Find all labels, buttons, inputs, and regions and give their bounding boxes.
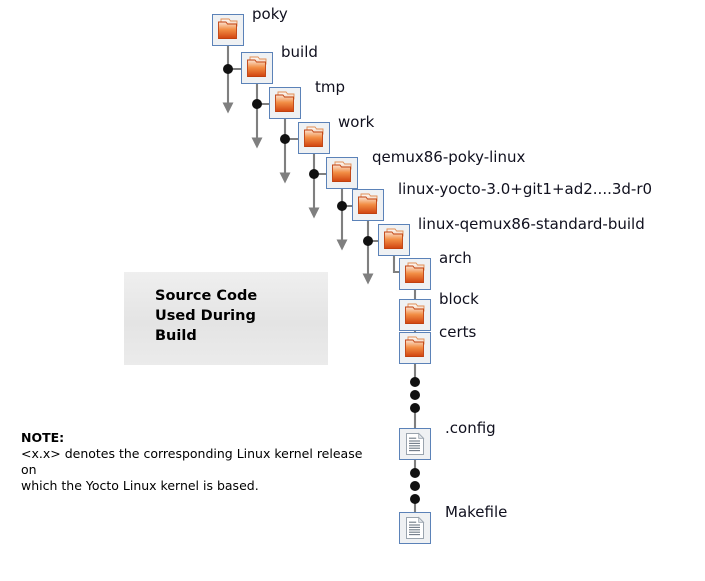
folder-icon[interactable]	[352, 189, 384, 221]
legend-label: Source Code Used During Build	[155, 286, 257, 346]
node-label: block	[439, 291, 479, 307]
file-icon[interactable]	[399, 428, 431, 460]
file-icon[interactable]	[399, 512, 431, 544]
directory-tree-diagram: poky build tmp	[0, 0, 705, 581]
node-label: qemux86-poky-linux	[372, 149, 525, 165]
folder-icon[interactable]	[399, 332, 431, 364]
folder-icon[interactable]	[326, 157, 358, 189]
note-block: NOTE: <x.x> denotes the corresponding Li…	[21, 430, 381, 494]
node-label: linux-qemux86-standard-build	[418, 216, 645, 232]
note-title: NOTE:	[21, 430, 381, 446]
folder-icon[interactable]	[399, 258, 431, 290]
folder-icon[interactable]	[298, 122, 330, 154]
legend-box: Source Code Used During Build	[124, 272, 328, 365]
folder-icon[interactable]	[241, 52, 273, 84]
folder-icon[interactable]	[212, 14, 244, 46]
node-label: tmp	[315, 79, 345, 95]
node-label: linux-yocto-3.0+git1+ad2....3d-r0	[398, 181, 652, 197]
node-label: work	[338, 114, 374, 130]
node-label: Makefile	[445, 504, 507, 520]
node-label: poky	[252, 6, 288, 22]
node-label: build	[281, 44, 318, 60]
node-label: arch	[439, 250, 472, 266]
folder-icon[interactable]	[378, 224, 410, 256]
note-body: <x.x> denotes the corresponding Linux ke…	[21, 446, 381, 494]
node-label: .config	[445, 420, 496, 436]
node-label: certs	[439, 324, 476, 340]
folder-icon[interactable]	[399, 299, 431, 331]
folder-icon[interactable]	[269, 87, 301, 119]
